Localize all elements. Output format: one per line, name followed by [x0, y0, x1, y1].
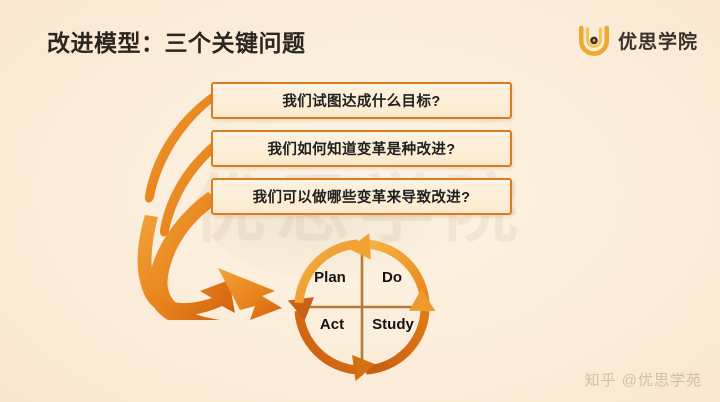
brand-logo: 优思学院	[577, 23, 698, 57]
cycle-label-do: Do	[368, 269, 416, 286]
question-label: 我们试图达成什么目标?	[282, 90, 440, 111]
cycle-label-act: Act	[304, 316, 360, 333]
cycle-label-plan: Plan	[302, 269, 358, 286]
page-title: 改进模型：三个关键问题	[47, 24, 306, 58]
question-box[interactable]: 我们如何知道变革是种改进?	[211, 130, 512, 167]
brand-name: 优思学院	[618, 27, 698, 54]
pdsa-cycle-graphic	[276, 221, 448, 393]
cycle-label-study: Study	[362, 316, 424, 333]
cycle-arrow-plan	[299, 228, 381, 303]
slide-canvas: 优思学院 改进模型：三个关键问题 优思学院 我们试	[0, 0, 720, 402]
question-box[interactable]: 我们可以做哪些变革来导致改进?	[211, 178, 512, 215]
u-logo-icon	[577, 23, 611, 57]
pdsa-cycle-diagram: Plan Do Study Act	[276, 221, 448, 393]
question-box[interactable]: 我们试图达成什么目标?	[211, 82, 512, 119]
question-label: 我们如何知道变革是种改进?	[267, 138, 455, 159]
question-label: 我们可以做哪些变革来导致改进?	[253, 186, 471, 207]
corner-watermark: 知乎 @优思学苑	[585, 369, 702, 390]
